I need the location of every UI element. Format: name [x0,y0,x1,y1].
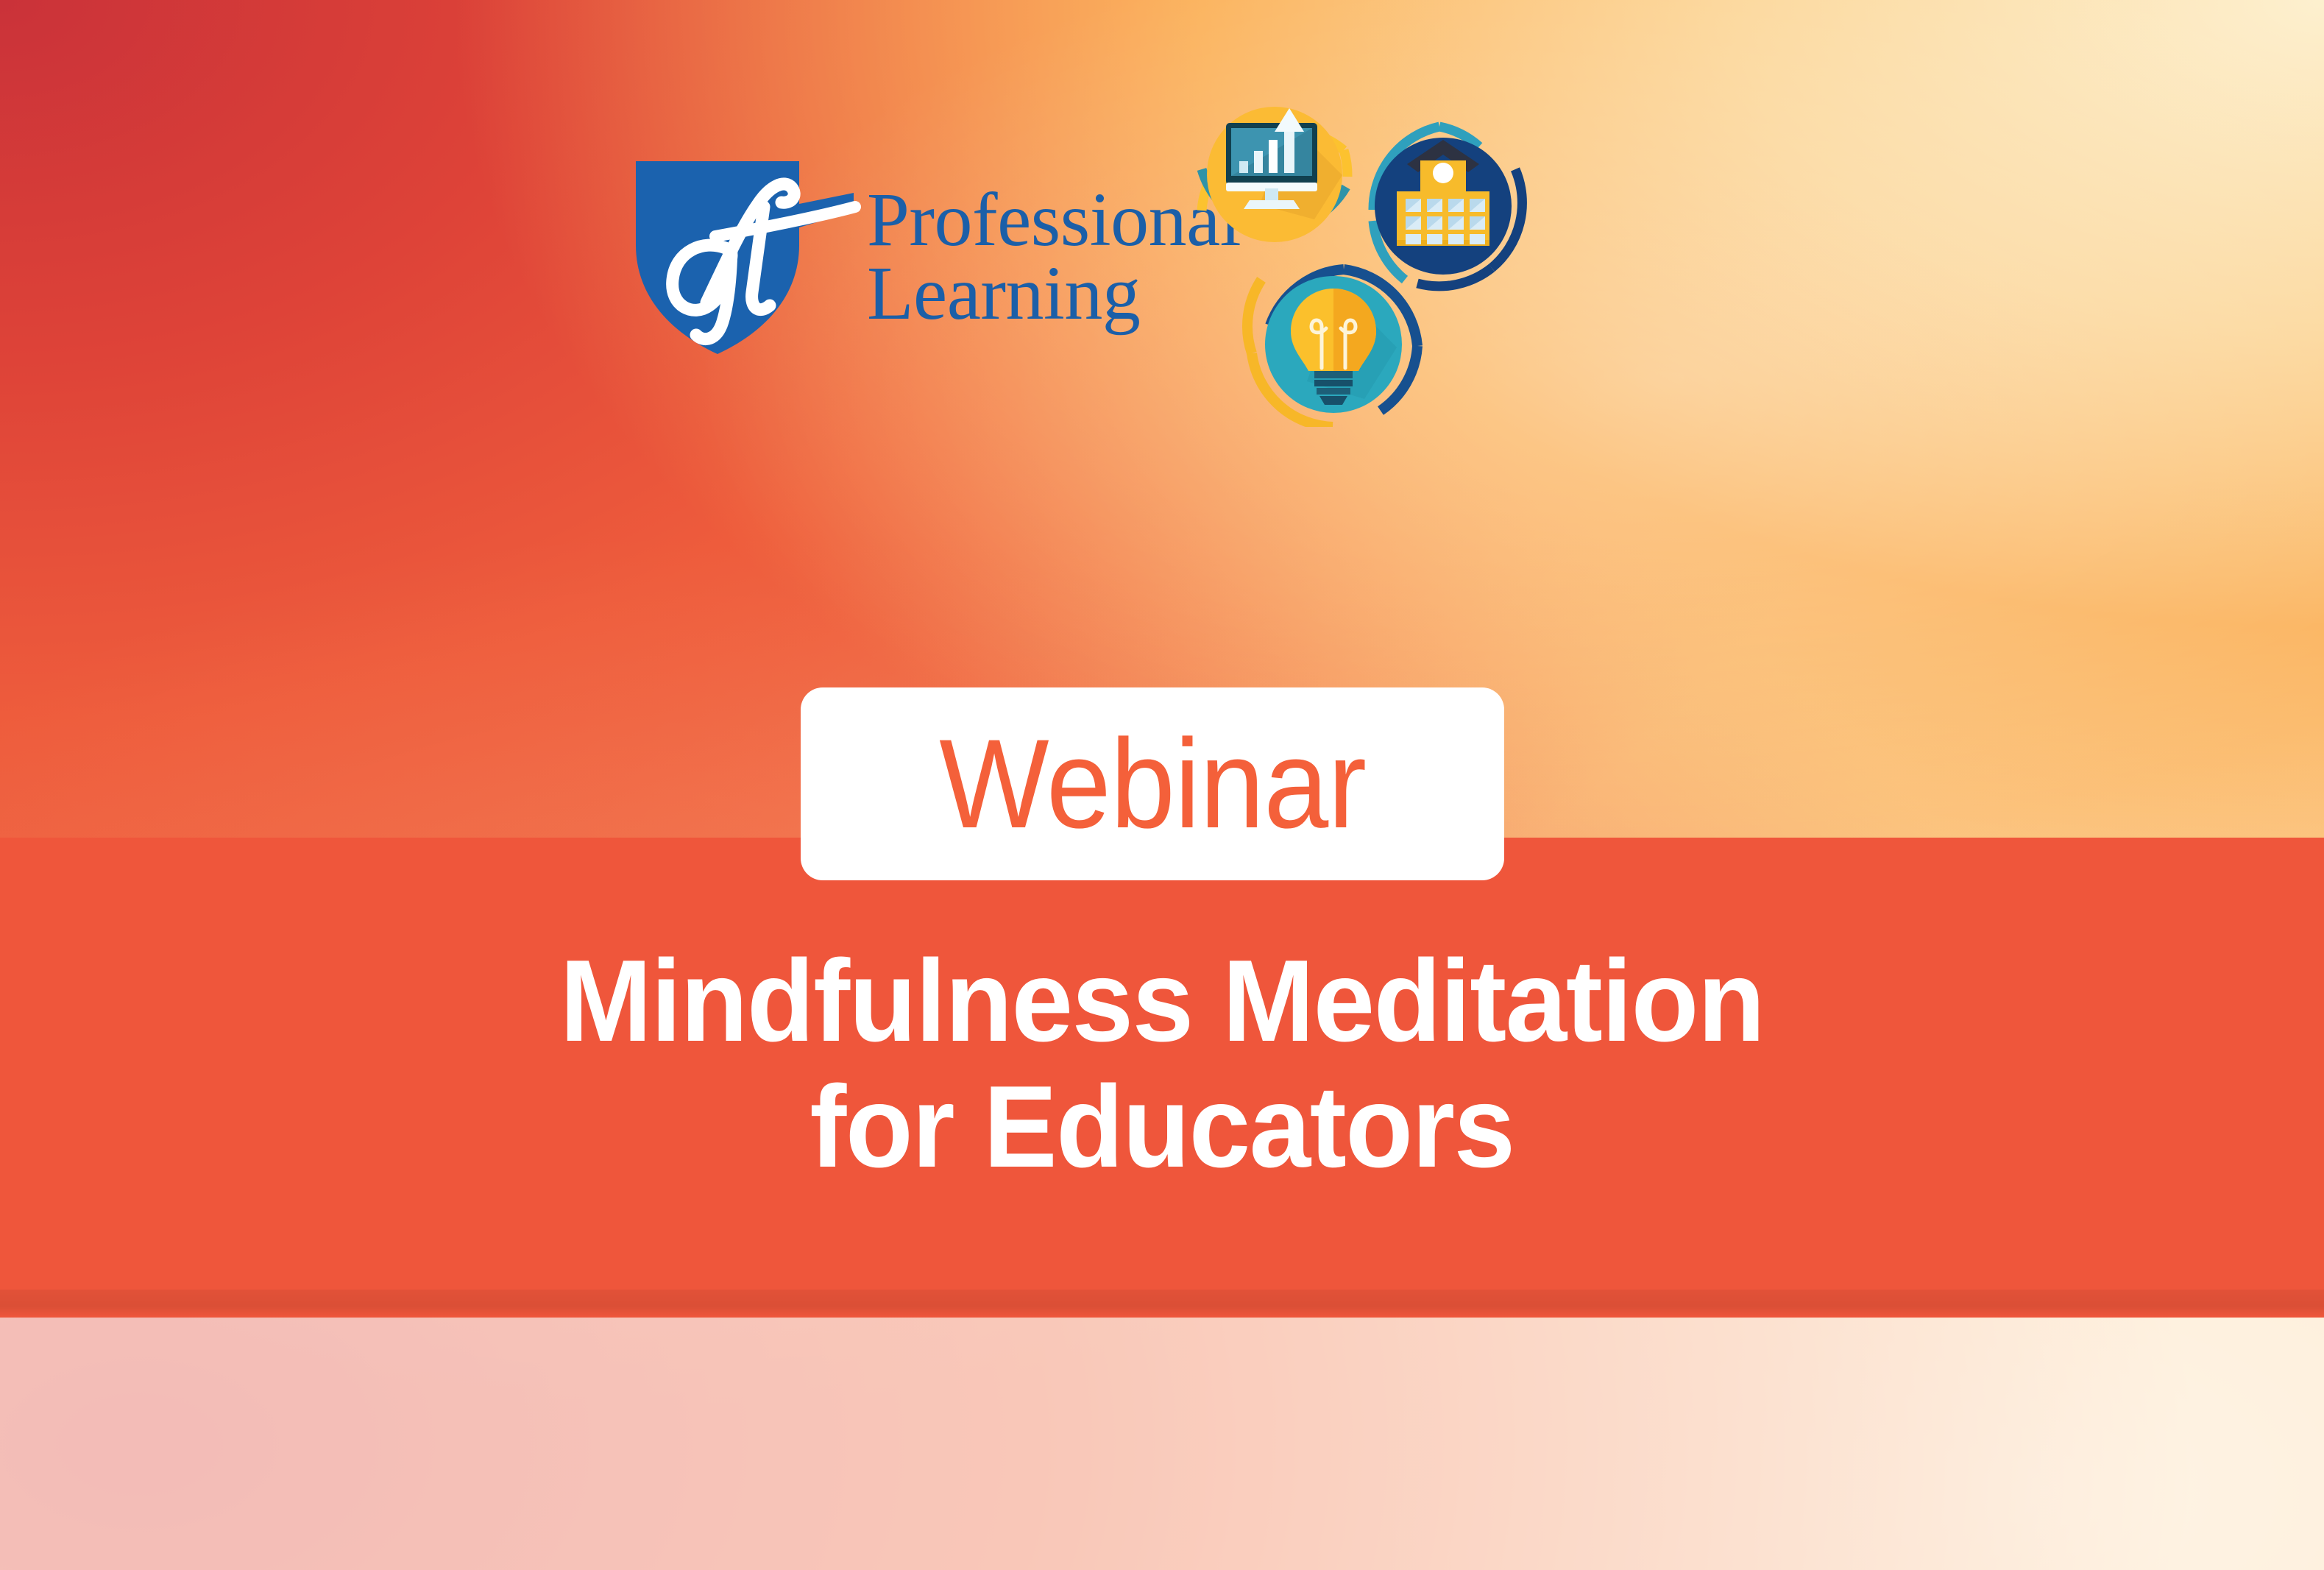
monitor-bar-chart-icon [1202,107,1347,242]
aft-logo-wordmark: Professional Learning [867,183,1241,330]
page-title: Mindfulness Meditation for Educators [0,938,2324,1189]
aft-shield-logo-icon [633,158,809,356]
page-title-line-1: Mindfulness Meditation [58,938,2266,1064]
background-lower-wash [0,1318,2324,1570]
lightbulb-idea-icon [1247,269,1417,427]
webinar-promo-canvas: Professional Learning [0,0,2324,1570]
logo-word-professional: Professional [867,177,1241,262]
webinar-badge: Webinar [801,687,1504,880]
professional-learning-icon-cluster [1197,59,1528,427]
aft-professional-learning-logo: Professional Learning [633,158,1241,356]
page-title-line-2: for Educators [58,1064,2266,1190]
school-building-icon [1373,127,1522,286]
webinar-badge-label: Webinar [939,721,1366,847]
logo-word-learning: Learning [867,257,1241,330]
brand-header: Professional Learning [633,66,1528,427]
